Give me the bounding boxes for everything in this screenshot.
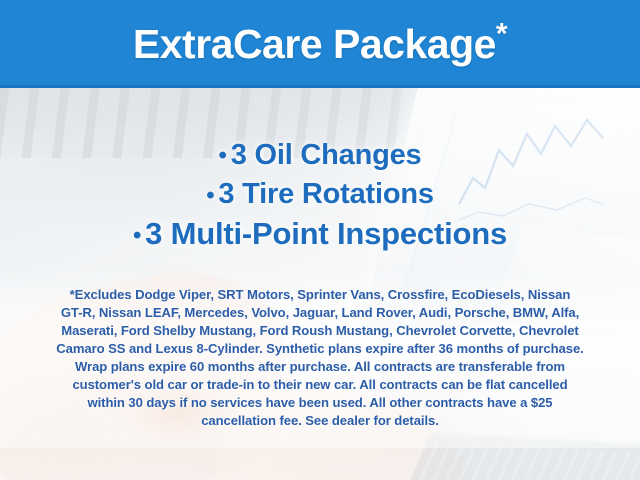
disclaimer-line: *Excludes Dodge Viper, SRT Motors, Sprin…	[18, 286, 622, 304]
bullet-dot-icon: •	[219, 142, 227, 169]
disclaimer-line: GT-R, Nissan LEAF, Mercedes, Volvo, Jagu…	[18, 304, 622, 322]
disclaimer-line: within 30 days if no services have been …	[18, 394, 622, 412]
disclaimer-line: Camaro SS and Lexus 8-Cylinder. Syntheti…	[18, 340, 622, 358]
disclaimer-line: cancellation fee. See dealer for details…	[18, 412, 622, 430]
benefits-list: •3 Oil Changes •3 Tire Rotations •3 Mult…	[0, 136, 640, 255]
disclaimer-line: Wrap plans expire 60 months after purcha…	[18, 358, 622, 376]
extracare-package-promo-banner: ExtraCare Package* •3 Oil Changes •3 Tir…	[0, 0, 640, 480]
benefit-item-oil-changes: •3 Oil Changes	[0, 136, 640, 175]
title-asterisk: *	[496, 17, 507, 50]
page-title-text: ExtraCare Package	[133, 21, 496, 67]
bullet-dot-icon: •	[206, 182, 214, 209]
disclaimer-line: Maserati, Ford Shelby Mustang, Ford Rous…	[18, 322, 622, 340]
benefit-label: 3 Oil Changes	[231, 139, 422, 171]
benefit-label: 3 Multi-Point Inspections	[145, 216, 507, 251]
benefit-item-tire-rotations: •3 Tire Rotations	[0, 175, 640, 214]
disclaimer-line: customer's old car or trade-in to their …	[18, 376, 622, 394]
header-banner: ExtraCare Package*	[0, 0, 640, 88]
page-title: ExtraCare Package*	[133, 21, 507, 68]
benefit-item-multi-point-inspections: •3 Multi-Point Inspections	[0, 215, 640, 255]
bullet-dot-icon: •	[133, 222, 141, 249]
disclaimer-text: *Excludes Dodge Viper, SRT Motors, Sprin…	[18, 286, 622, 430]
benefit-label: 3 Tire Rotations	[218, 178, 433, 210]
